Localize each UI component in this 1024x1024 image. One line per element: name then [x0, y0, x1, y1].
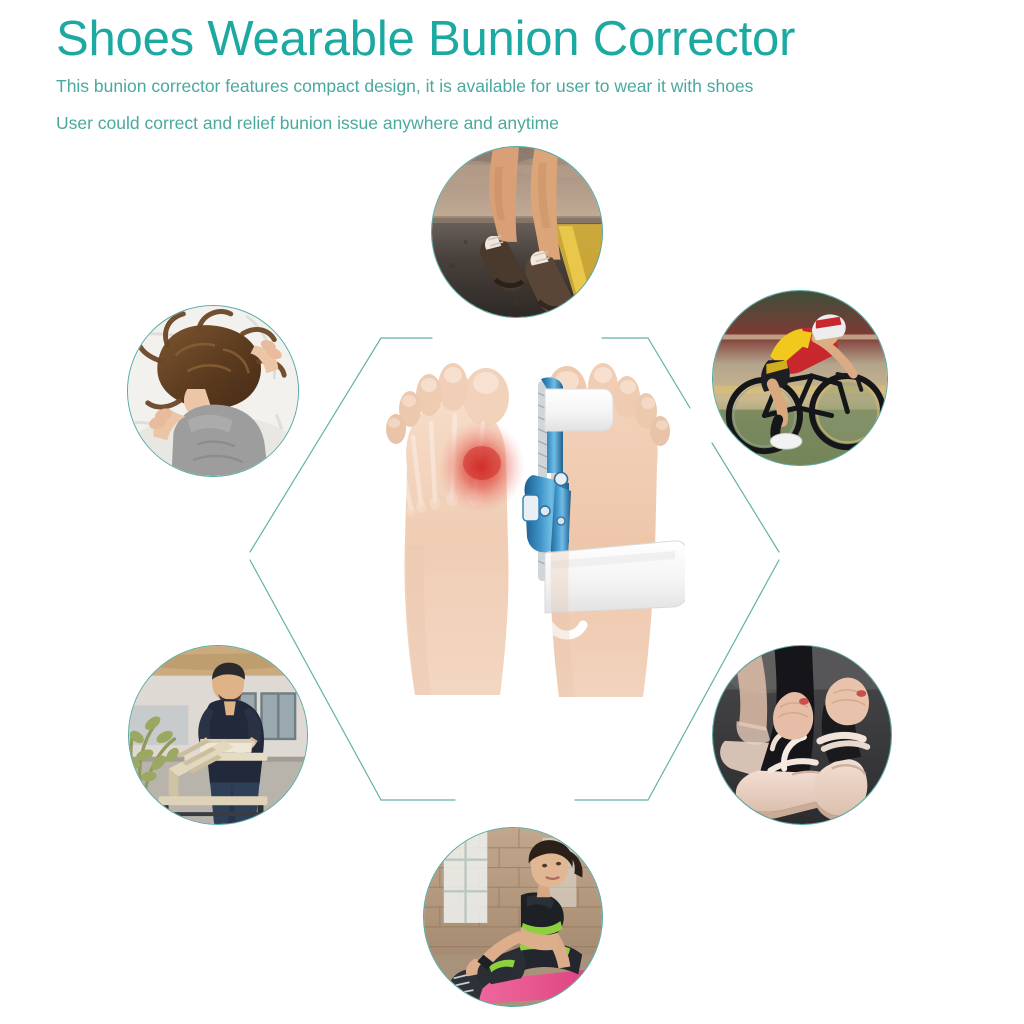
use-case-sleeping: [127, 305, 299, 477]
left-toenail-5: [388, 418, 400, 428]
left-toenail-4: [402, 395, 416, 407]
header: Shoes Wearable Bunion Corrector This bun…: [0, 0, 1024, 133]
subtitle-line-2: User could correct and relief bunion iss…: [56, 95, 1024, 133]
corrector-pivot-lower: [557, 517, 565, 525]
left-toenail-3: [421, 378, 437, 392]
toe-strap: [545, 389, 613, 431]
running-scene: [432, 147, 602, 317]
corrector-pivot-mid: [540, 506, 550, 516]
bunion-core: [463, 446, 501, 480]
product-image: [355, 345, 685, 745]
feet-illustration: [355, 345, 685, 745]
corrector-ratchet-knob: [523, 495, 539, 521]
left-toenail-2: [444, 367, 462, 383]
right-toenail-2: [594, 367, 612, 383]
page-title: Shoes Wearable Bunion Corrector: [56, 0, 1024, 66]
use-case-cycling: [712, 290, 888, 466]
product-infographic: Shoes Wearable Bunion Corrector This bun…: [0, 0, 1024, 1024]
cycling-scene: [713, 291, 887, 465]
use-case-yoga: [423, 827, 603, 1007]
use-case-standing-desk: [128, 645, 308, 825]
corrector-pivot-upper: [555, 473, 568, 486]
sleeping-scene: [128, 306, 298, 476]
left-foot-bunion: [386, 363, 525, 695]
subtitle-line-1: This bunion corrector features compact d…: [56, 66, 1024, 96]
yoga-scene: [424, 828, 602, 1006]
ballet-scene: [713, 646, 891, 824]
right-toenail-3: [620, 380, 636, 394]
left-big-toenail: [473, 372, 499, 394]
right-toenail-4: [641, 397, 655, 409]
use-case-ballet: [712, 645, 892, 825]
use-case-running: [431, 146, 603, 318]
right-foot-with-corrector: [523, 363, 685, 697]
standing-desk-scene: [129, 646, 307, 824]
right-toenail-5: [656, 420, 668, 430]
